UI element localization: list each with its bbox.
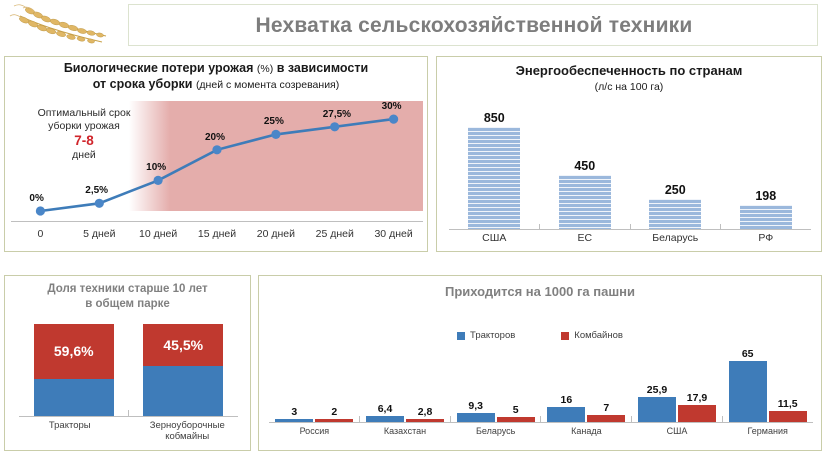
category-label: Беларусь bbox=[630, 232, 721, 244]
infographic-page: Нехватка сельскохозяйственной техники Би… bbox=[0, 0, 826, 455]
x-tick-label: 10 дней bbox=[129, 228, 188, 240]
panel-per-1000-ha: Приходится на 1000 га пашни ТракторовКом… bbox=[258, 275, 822, 451]
bar-column: 65 bbox=[729, 348, 767, 422]
bar-column: 9,3 bbox=[457, 348, 495, 422]
energy-category-labels: СШАЕСБеларусьРФ bbox=[449, 232, 811, 244]
chart-title-age: Доля техники старше 10 лет в общем парке bbox=[9, 282, 246, 312]
bar bbox=[559, 175, 611, 229]
x-tick-label: 5 дней bbox=[70, 228, 129, 240]
bar-value-label: 7 bbox=[603, 402, 609, 414]
bar-value-label: 65 bbox=[742, 348, 754, 360]
stacked-bar: 45,5% bbox=[143, 324, 223, 416]
bar-value-label: 450 bbox=[574, 159, 595, 173]
bar-group: 25,917,9 bbox=[632, 348, 723, 422]
chart-title-energy: Энергообеспеченность по странам (л/с на … bbox=[441, 63, 817, 95]
data-point-label: 20% bbox=[205, 132, 225, 143]
x-tick-label: 20 дней bbox=[246, 228, 305, 240]
bar-segment-old: 45,5% bbox=[143, 324, 223, 366]
x-tick-label: 30 дней bbox=[364, 228, 423, 240]
data-point bbox=[389, 115, 398, 124]
bar-value-label: 198 bbox=[755, 189, 776, 203]
wheat-ears-icon bbox=[6, 2, 122, 50]
bar bbox=[468, 127, 520, 229]
bar-value-label: 16 bbox=[561, 394, 573, 406]
per1000-category-labels: РоссияКазахстанБеларусьКанадаСШАГермания bbox=[269, 426, 813, 436]
bar-value-label: 17,9 bbox=[687, 392, 707, 404]
data-point bbox=[154, 176, 163, 185]
title-light-1: (%) bbox=[257, 63, 273, 75]
energy-bars: 850450250198 bbox=[449, 107, 811, 229]
bar-value-label: 850 bbox=[484, 111, 505, 125]
category-label: Тракторы bbox=[11, 420, 129, 442]
energy-subtitle: (л/с на 100 га) bbox=[441, 79, 817, 95]
per1000-x-axis bbox=[269, 422, 813, 423]
data-point-label: 2,5% bbox=[85, 185, 108, 196]
category-label: Канада bbox=[541, 426, 632, 436]
category-label: США bbox=[449, 232, 540, 244]
age-category-labels: ТракторыЗерноуборочные кобмайны bbox=[11, 420, 246, 442]
panel-biological-losses: Биологические потери урожая (%) в зависи… bbox=[4, 56, 428, 252]
title-bold-1-tail: в зависимости bbox=[277, 61, 368, 75]
bar-column: 3 bbox=[275, 348, 313, 422]
data-point bbox=[330, 122, 339, 131]
bar-group: 45,5% bbox=[129, 324, 239, 416]
header-title-box: Нехватка сельскохозяйственной техники bbox=[128, 4, 818, 46]
legend-swatch bbox=[561, 332, 569, 340]
x-tick-label: 0 bbox=[11, 228, 70, 240]
category-label: Зерноуборочные кобмайны bbox=[129, 420, 247, 442]
bar-group: 450 bbox=[540, 107, 631, 229]
bar-column: 5 bbox=[497, 348, 535, 422]
x-tick-label: 25 дней bbox=[305, 228, 364, 240]
data-point bbox=[212, 145, 221, 154]
legend-label: Комбайнов bbox=[574, 330, 623, 341]
page-title: Нехватка сельскохозяйственной техники bbox=[129, 5, 819, 47]
data-point-label: 0% bbox=[29, 193, 43, 204]
data-point-label: 25% bbox=[264, 116, 284, 127]
bar-group: 167 bbox=[541, 348, 632, 422]
bar-segment-old: 59,6% bbox=[34, 324, 114, 379]
panel-energy-supply: Энергообеспеченность по странам (л/с на … bbox=[436, 56, 822, 252]
chart-title-losses: Биологические потери урожая (%) в зависи… bbox=[9, 61, 423, 93]
bar-group: 850 bbox=[449, 107, 540, 229]
data-point bbox=[271, 130, 280, 139]
bar bbox=[729, 361, 767, 422]
per1000-legend: ТракторовКомбайнов bbox=[259, 330, 821, 341]
energy-x-axis bbox=[449, 229, 811, 230]
category-label: Россия bbox=[269, 426, 360, 436]
bar-value-label: 5 bbox=[513, 404, 519, 416]
data-point bbox=[36, 206, 45, 215]
category-label: Германия bbox=[722, 426, 813, 436]
bar-segment-rest bbox=[143, 366, 223, 416]
data-point bbox=[95, 199, 104, 208]
panel-equipment-age: Доля техники старше 10 лет в общем парке… bbox=[4, 275, 251, 451]
bar-column: 16 bbox=[547, 348, 585, 422]
title-bold-2: от срока уборки bbox=[93, 77, 193, 91]
category-label: РФ bbox=[721, 232, 812, 244]
line-chart-plot: Оптимальный срок уборки урожая 7-8 дней … bbox=[11, 101, 423, 223]
legend-swatch bbox=[457, 332, 465, 340]
losses-x-tick-labels: 05 дней10 дней15 дней20 дней25 дней30 дн… bbox=[11, 223, 423, 245]
category-label: ЕС bbox=[540, 232, 631, 244]
age-stacked-bars: 59,6%45,5% bbox=[19, 324, 238, 416]
losses-line-svg bbox=[11, 101, 423, 223]
x-tick-label: 15 дней bbox=[188, 228, 247, 240]
bar-value-label: 11,5 bbox=[778, 398, 798, 410]
bar-group: 32 bbox=[269, 348, 360, 422]
category-label: США bbox=[632, 426, 723, 436]
bar-column: 2 bbox=[315, 348, 353, 422]
age-title-line-2: в общем парке bbox=[85, 298, 170, 310]
age-title-line-1: Доля техники старше 10 лет bbox=[47, 283, 207, 295]
data-point-label: 10% bbox=[146, 162, 166, 173]
losses-x-axis bbox=[11, 221, 423, 222]
bar-group: 6511,5 bbox=[722, 348, 813, 422]
title-bold-1: Биологические потери урожая bbox=[64, 61, 254, 75]
bar-column: 17,9 bbox=[678, 348, 716, 422]
bar-group: 6,42,8 bbox=[360, 348, 451, 422]
bar-column: 6,4 bbox=[366, 348, 404, 422]
bar-group: 198 bbox=[721, 107, 812, 229]
energy-title-main: Энергообеспеченность по странам bbox=[516, 63, 743, 78]
bar-group: 9,35 bbox=[450, 348, 541, 422]
bar-value-label: 250 bbox=[665, 183, 686, 197]
title-light-2: (дней с момента созревания) bbox=[196, 79, 339, 91]
bar-column: 25,9 bbox=[638, 348, 676, 422]
age-x-axis bbox=[19, 416, 238, 417]
legend-item[interactable]: Комбайнов bbox=[561, 330, 623, 341]
page-header: Нехватка сельскохозяйственной техники bbox=[0, 0, 826, 52]
chart-title-per1000: Приходится на 1000 га пашни bbox=[263, 284, 817, 299]
legend-label: Тракторов bbox=[470, 330, 515, 341]
data-point-label: 27,5% bbox=[323, 109, 351, 120]
legend-item[interactable]: Тракторов bbox=[457, 330, 515, 341]
category-label: Беларусь bbox=[450, 426, 541, 436]
bar-column: 11,5 bbox=[769, 348, 807, 422]
bar-column: 2,8 bbox=[406, 348, 444, 422]
bar-value-label: 9,3 bbox=[468, 400, 483, 412]
bar-group: 250 bbox=[630, 107, 721, 229]
bar-value-label: 6,4 bbox=[378, 403, 393, 415]
data-point-label: 30% bbox=[382, 101, 402, 112]
bar-value-label: 25,9 bbox=[647, 384, 667, 396]
per1000-bars: 326,42,89,3516725,917,96511,5 bbox=[269, 348, 813, 422]
category-label: Казахстан bbox=[360, 426, 451, 436]
bar-group: 59,6% bbox=[19, 324, 129, 416]
bar-column: 7 bbox=[587, 348, 625, 422]
stacked-bar: 59,6% bbox=[34, 324, 114, 416]
